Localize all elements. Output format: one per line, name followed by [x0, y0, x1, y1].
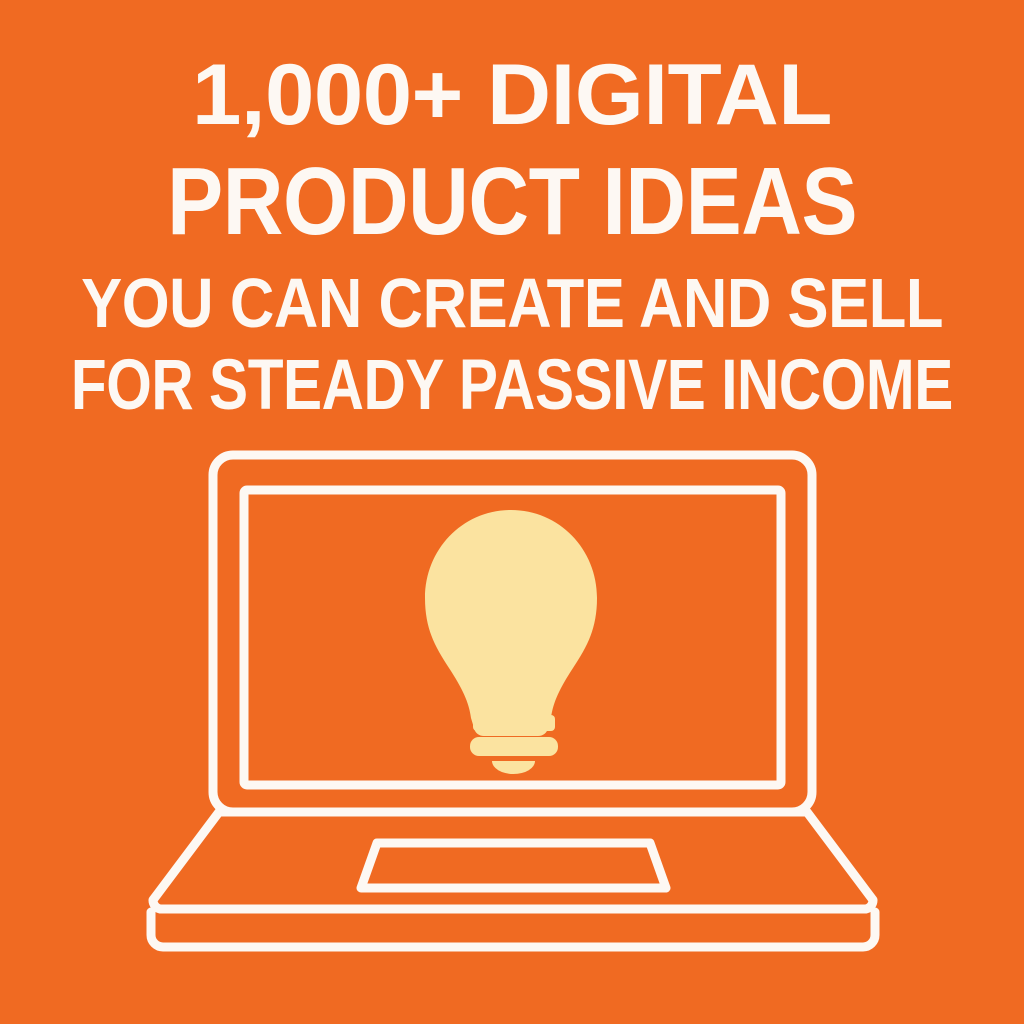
- laptop-trackpad: [361, 843, 666, 888]
- laptop-bulb-svg: [0, 430, 1024, 1024]
- bulb-thread-upper: [473, 715, 555, 731]
- bulb-globe: [425, 510, 597, 736]
- headline-line-4: FOR STEADY PASSIVE INCOME: [71, 350, 953, 421]
- poster-canvas: 1,000+ DIGITAL PRODUCT IDEAS YOU CAN CRE…: [0, 0, 1024, 1024]
- headline-line-1: 1,000+ DIGITAL: [192, 52, 832, 138]
- bulb-tip: [492, 761, 535, 774]
- laptop-bottom-edge: [151, 912, 875, 947]
- headline-line-3: YOU CAN CREATE AND SELL: [81, 268, 943, 338]
- bulb-thread-lower: [470, 737, 558, 756]
- laptop-base: [153, 812, 873, 909]
- laptop-illustration: [0, 430, 1024, 1024]
- headline-block: 1,000+ DIGITAL PRODUCT IDEAS YOU CAN CRE…: [0, 0, 1024, 430]
- headline-line-2: PRODUCT IDEAS: [167, 154, 857, 250]
